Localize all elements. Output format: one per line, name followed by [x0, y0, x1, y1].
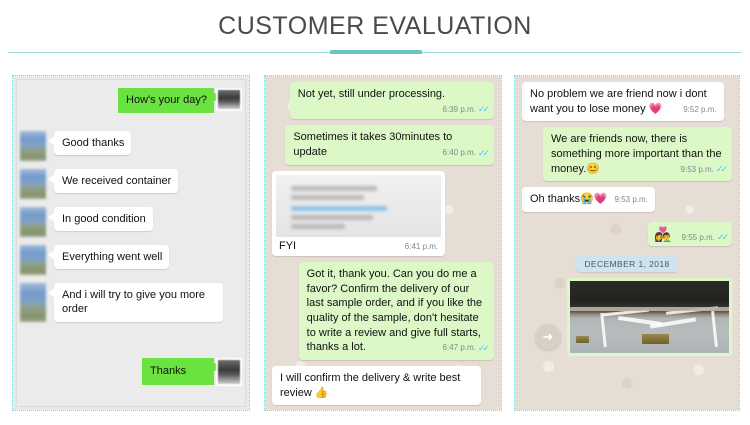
chat-bubble-outgoing-emoji[interactable]: 👩‍❤️‍👨 9:55 p.m. ✓✓	[648, 222, 732, 247]
bubble-text: Sometimes it takes 30minutes to update	[293, 131, 452, 158]
page-root: CUSTOMER EVALUATION How's your day? Good…	[0, 0, 750, 425]
message-list-3: No problem we are friend now i dont want…	[515, 76, 739, 410]
chat-bubble-outgoing[interactable]: How's your day?	[118, 88, 214, 113]
message-row: No problem we are friend now i dont want…	[522, 82, 732, 121]
blurred-screenshot-image[interactable]	[276, 175, 441, 237]
message-meta: 9:52 p.m.	[683, 105, 716, 116]
blurred-avatar	[20, 245, 46, 275]
message-list-1: How's your day? Good thanks We received …	[13, 76, 249, 410]
message-row: We received container	[20, 169, 242, 199]
message-time: 9:52 p.m.	[683, 105, 716, 116]
message-row: Good thanks	[20, 131, 242, 161]
chat-bubble-outgoing[interactable]: We are friends now, there is something m…	[543, 127, 732, 181]
message-row-photo: ➜	[522, 278, 732, 356]
contact-thumbnail-icon	[216, 88, 242, 111]
message-time: 9:53 p.m.	[681, 165, 714, 176]
message-row: I will confirm the delivery & write best…	[272, 366, 494, 405]
message-meta: 9:53 p.m.	[615, 195, 648, 206]
message-row: 👩‍❤️‍👨 9:55 p.m. ✓✓	[522, 222, 732, 247]
product-photo-image[interactable]	[570, 281, 729, 353]
message-meta: 6:40 p.m. ✓✓	[443, 148, 487, 159]
chat-bubble-incoming[interactable]: Everything went well	[54, 245, 169, 270]
message-row: How's your day?	[20, 88, 242, 113]
message-row: We are friends now, there is something m…	[522, 127, 732, 181]
bubble-text: We received container	[62, 175, 171, 187]
read-receipt-icon: ✓✓	[717, 233, 726, 242]
chat-bubble-outgoing-photo[interactable]	[567, 278, 732, 356]
bubble-text: How's your day?	[126, 94, 207, 106]
message-time: 6:39 p.m.	[443, 105, 476, 116]
bubble-text: Got it, thank you. Can you do me a favor…	[307, 268, 482, 353]
message-row: Everything went well	[20, 245, 242, 275]
chat-bubble-outgoing[interactable]: Not yet, still under processing. 6:39 p.…	[290, 82, 494, 119]
message-time: 9:55 p.m.	[682, 233, 715, 244]
chat-bubble-outgoing[interactable]: Sometimes it takes 30minutes to update 6…	[285, 125, 494, 164]
bubble-text: In good condition	[62, 213, 146, 225]
bubble-text: Thanks	[150, 365, 186, 377]
message-time: 9:53 p.m.	[615, 195, 648, 206]
chat-bubble-outgoing[interactable]: Thanks	[142, 358, 214, 385]
page-title: CUSTOMER EVALUATION	[0, 12, 750, 41]
message-row: Not yet, still under processing. 6:39 p.…	[272, 82, 494, 119]
bubble-text: No problem we are friend now i dont want…	[530, 88, 707, 115]
blurred-avatar	[20, 131, 46, 161]
bubble-text: 👩‍❤️‍👨	[654, 226, 671, 242]
message-time: 6:47 p.m.	[443, 343, 476, 354]
read-receipt-icon: ✓✓	[478, 149, 487, 158]
message-list-2: Not yet, still under processing. 6:39 p.…	[265, 76, 501, 410]
blurred-avatar	[20, 169, 46, 199]
chat-panel-3: No problem we are friend now i dont want…	[514, 75, 740, 411]
bubble-text: Oh thanks😭💗	[530, 193, 608, 205]
page-header: CUSTOMER EVALUATION	[0, 0, 750, 62]
message-time: 6:40 p.m.	[443, 148, 476, 159]
chat-bubble-incoming[interactable]: In good condition	[54, 207, 153, 232]
message-row: And i will try to give you more order	[20, 283, 242, 322]
bubble-text: I will confirm the delivery & write best…	[280, 372, 460, 399]
contact-thumbnail-icon	[216, 358, 242, 386]
message-row: Got it, thank you. Can you do me a favor…	[272, 262, 494, 360]
message-row: Sometimes it takes 30minutes to update 6…	[272, 125, 494, 164]
message-meta: 6:41 p.m.	[405, 242, 438, 253]
blurred-avatar	[20, 207, 46, 237]
bubble-text: And i will try to give you more order	[62, 289, 205, 316]
forward-arrow-icon[interactable]: ➜	[535, 324, 561, 350]
bubble-text: Good thanks	[62, 137, 124, 149]
date-chip-label: DECEMBER 1, 2018	[576, 256, 677, 272]
chat-bubble-incoming[interactable]: I will confirm the delivery & write best…	[272, 366, 481, 405]
chat-panel-1: How's your day? Good thanks We received …	[12, 75, 250, 411]
read-receipt-icon: ✓✓	[478, 105, 487, 114]
testimonial-panels: How's your day? Good thanks We received …	[0, 75, 750, 415]
message-row: In good condition	[20, 207, 242, 237]
message-row: Thanks	[20, 358, 242, 386]
bubble-text: FYI	[279, 239, 296, 254]
read-receipt-icon: ✓✓	[716, 165, 725, 174]
chat-panel-2: Not yet, still under processing. 6:39 p.…	[264, 75, 502, 411]
chat-bubble-outgoing[interactable]: Got it, thank you. Can you do me a favor…	[299, 262, 494, 360]
chat-bubble-incoming[interactable]: Good thanks	[54, 131, 131, 156]
message-meta: 9:53 p.m. ✓✓	[681, 165, 725, 176]
bubble-text: Everything went well	[62, 251, 162, 263]
message-meta: 6:39 p.m. ✓✓	[443, 105, 487, 116]
chat-bubble-incoming[interactable]: And i will try to give you more order	[54, 283, 223, 322]
chat-bubble-incoming[interactable]: No problem we are friend now i dont want…	[522, 82, 724, 121]
header-divider-accent	[330, 50, 422, 54]
message-time: 6:41 p.m.	[405, 242, 438, 253]
date-divider: DECEMBER 1, 2018	[522, 256, 732, 272]
message-meta: 9:55 p.m. ✓✓	[682, 233, 726, 244]
read-receipt-icon: ✓✓	[478, 344, 487, 353]
chat-bubble-incoming[interactable]: Oh thanks😭💗 9:53 p.m.	[522, 187, 655, 212]
blurred-avatar	[20, 283, 46, 322]
chat-bubble-incoming[interactable]: We received container	[54, 169, 178, 194]
chat-bubble-incoming-attachment[interactable]: FYI 6:41 p.m.	[272, 171, 445, 257]
bubble-text: Not yet, still under processing.	[298, 88, 445, 100]
message-row: FYI 6:41 p.m.	[272, 171, 494, 257]
message-meta: 6:47 p.m. ✓✓	[443, 343, 487, 354]
message-row: Oh thanks😭💗 9:53 p.m.	[522, 187, 732, 212]
